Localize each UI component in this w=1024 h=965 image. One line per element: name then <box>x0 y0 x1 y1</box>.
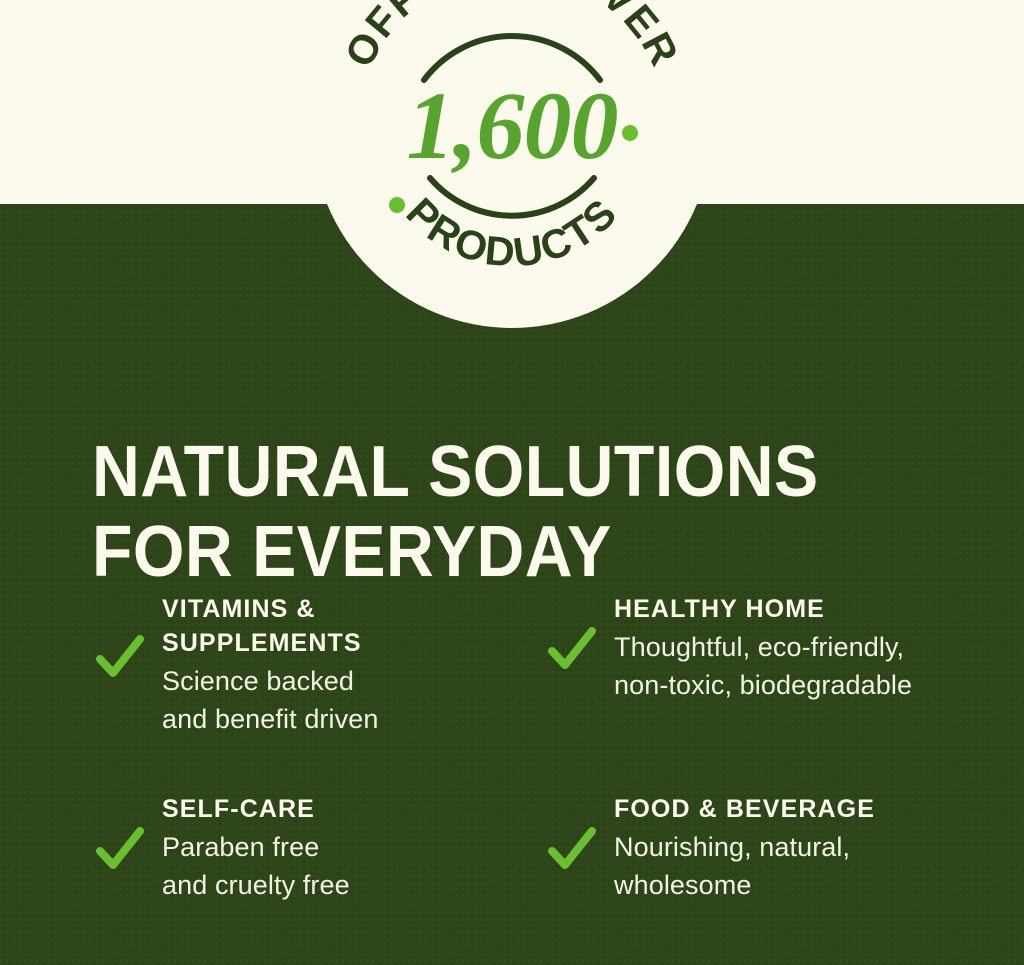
headline-line-1: NATURAL SOLUTIONS <box>92 432 902 512</box>
check-icon <box>548 626 596 674</box>
feature-item-food-beverage: FOOD & BEVERAGE Nourishing, natural, who… <box>544 792 988 904</box>
feature-list: VITAMINS & SUPPLEMENTS Science backed an… <box>92 592 988 904</box>
feature-title: HEALTHY HOME <box>614 592 988 626</box>
feature-title: FOOD & BEVERAGE <box>614 792 988 826</box>
headline-line-2: FOR EVERYDAY <box>92 512 902 592</box>
check-icon <box>96 826 144 874</box>
badge-dot-left-icon <box>389 197 405 213</box>
badge-product-count: 1,600 <box>407 72 618 179</box>
page-title: NATURAL SOLUTIONS FOR EVERYDAY <box>92 432 902 592</box>
badge-dot-right-icon <box>622 125 638 141</box>
feature-description: Nourishing, natural, wholesome <box>614 828 988 904</box>
feature-description: Science backed and benefit driven <box>162 662 544 738</box>
badge-lower-decorative-arc <box>430 178 594 216</box>
feature-description: Paraben free and cruelty free <box>162 828 544 904</box>
feature-item-self-care: SELF-CARE Paraben free and cruelty free <box>92 792 544 904</box>
check-icon <box>548 826 596 874</box>
check-icon <box>96 634 144 682</box>
feature-title: SELF-CARE <box>162 792 544 826</box>
promo-banner: OFFERING OVER PRODUCTS 1,600 NATURAL SOL… <box>0 0 1024 965</box>
feature-description: Thoughtful, eco-friendly, non-toxic, bio… <box>614 628 988 704</box>
badge-bottom-arc-text: PRODUCTS <box>398 189 627 276</box>
feature-item-healthy-home: HEALTHY HOME Thoughtful, eco-friendly, n… <box>544 592 988 792</box>
feature-title: VITAMINS & SUPPLEMENTS <box>162 592 544 660</box>
offering-over-products-badge: OFFERING OVER PRODUCTS 1,600 <box>312 0 712 328</box>
feature-item-vitamins-supplements: VITAMINS & SUPPLEMENTS Science backed an… <box>92 592 544 792</box>
